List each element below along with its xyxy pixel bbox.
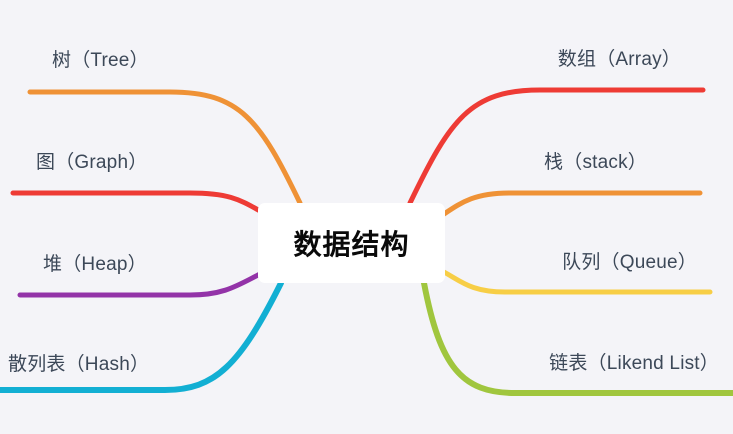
center-node-title: 数据结构 [293, 223, 409, 263]
branch-path-queue [444, 272, 710, 292]
branch-label-array[interactable]: 数组（Array） [558, 50, 681, 71]
branch-label-queue[interactable]: 队列（Queue） [562, 253, 697, 274]
branch-label-stack[interactable]: 栈（stack） [544, 153, 647, 174]
branch-path-array [410, 90, 703, 203]
branch-path-heap [20, 273, 262, 295]
branch-label-linked-list[interactable]: 链表（Likend List） [549, 354, 719, 375]
branch-label-hash[interactable]: 散列表（Hash） [8, 355, 149, 376]
branch-label-tree[interactable]: 树（Tree） [52, 51, 149, 72]
mindmap-canvas: 树（Tree） 图（Graph） 堆（Heap） 散列表（Hash） 数组（Ar… [0, 0, 733, 434]
branch-path-stack [444, 193, 700, 214]
branch-path-linked-list [424, 283, 733, 393]
branch-label-graph[interactable]: 图（Graph） [36, 153, 147, 174]
branch-path-graph [13, 193, 262, 212]
branch-path-tree [30, 92, 300, 203]
center-node[interactable]: 数据结构 [258, 203, 445, 283]
branch-label-heap[interactable]: 堆（Heap） [43, 255, 147, 276]
